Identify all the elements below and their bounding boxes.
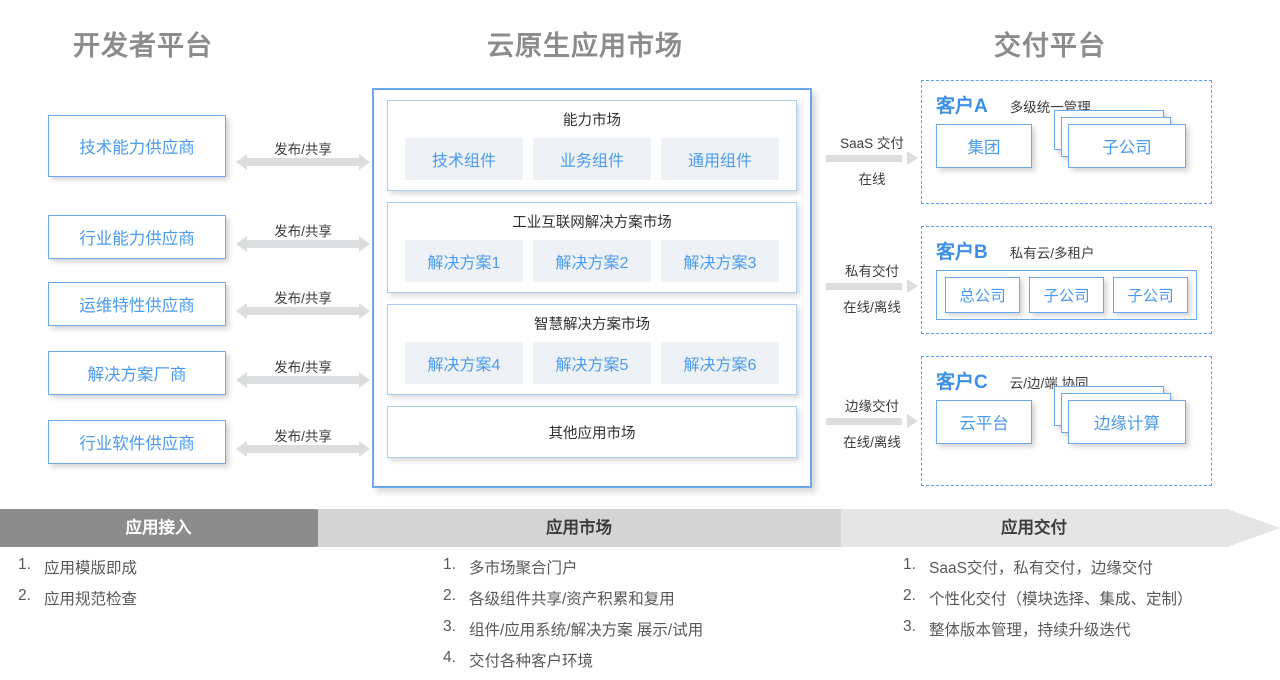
market-section-title: 智慧解决方案市场 <box>388 313 796 334</box>
tenant-container: 总公司 子公司 子公司 <box>936 270 1197 320</box>
chip-solution-2[interactable]: 解决方案2 <box>533 240 651 282</box>
market-section-title: 工业互联网解决方案市场 <box>388 211 796 232</box>
unit-box-subsidiary[interactable]: 子公司 <box>1068 124 1186 168</box>
unit-box-headquarters[interactable]: 总公司 <box>945 277 1020 313</box>
bullet-list-access: 1. 应用模版即成 2. 应用规范检查 <box>18 556 137 618</box>
chip-tech-component[interactable]: 技术组件 <box>405 138 523 180</box>
list-item-number: 2. <box>443 587 469 609</box>
customer-name: 客户B <box>936 237 988 264</box>
list-item-text: 应用模版即成 <box>44 556 137 578</box>
customer-name: 客户C <box>936 367 988 394</box>
market-section-title: 能力市场 <box>388 109 796 130</box>
unit-box-edge-computing[interactable]: 边缘计算 <box>1068 400 1186 444</box>
share-arrow-label: 发布/共享 <box>236 287 370 307</box>
share-arrow-label: 发布/共享 <box>236 356 370 376</box>
list-item: 2. 应用规范检查 <box>18 587 137 609</box>
share-arrow-label: 发布/共享 <box>236 220 370 240</box>
supplier-box-industry-software[interactable]: 行业软件供应商 <box>48 420 226 464</box>
arrow-head-right-icon <box>907 151 918 165</box>
list-item: 1. 多市场聚合门户 <box>443 556 703 578</box>
stage-label: 应用交付 <box>841 509 1227 547</box>
chip-solution-5[interactable]: 解决方案5 <box>533 342 651 384</box>
unit-box-cloud-platform[interactable]: 云平台 <box>936 400 1032 444</box>
chip-solution-6[interactable]: 解决方案6 <box>661 342 779 384</box>
column-header-developer: 开发者平台 <box>73 24 213 63</box>
customer-panel-c: 客户C 云/边/端 协同 云平台 边缘计算 <box>921 356 1212 486</box>
list-item-text: 各级组件共享/资产积累和复用 <box>469 587 675 609</box>
unit-stack-edge-computing[interactable]: 边缘计算 <box>1068 400 1186 444</box>
arrow-shaft <box>246 240 360 248</box>
stage-chevron-access: 应用接入 <box>0 509 340 547</box>
list-item: 4. 交付各种客户环境 <box>443 649 703 671</box>
list-item-text: 个性化交付（模块选择、集成、定制） <box>929 587 1193 609</box>
arrow-shaft <box>246 158 360 166</box>
customer-panel-a: 客户A 多级统一管理 集团 子公司 <box>921 80 1212 204</box>
column-header-delivery: 交付平台 <box>994 24 1106 63</box>
supplier-box-tech-capability[interactable]: 技术能力供应商 <box>48 115 226 177</box>
stage-banner: 应用接入 应用市场 应用交付 <box>0 509 1280 547</box>
arrow-shaft <box>246 307 360 315</box>
customer-body: 总公司 子公司 子公司 <box>936 270 1197 320</box>
list-item-text: SaaS交付，私有交付，边缘交付 <box>929 556 1153 578</box>
unit-box-subsidiary-1[interactable]: 子公司 <box>1029 277 1104 313</box>
list-item-number: 2. <box>903 587 929 609</box>
customer-subtitle: 私有云/多租户 <box>1010 242 1095 262</box>
bullet-list-delivery: 1. SaaS交付，私有交付，边缘交付 2. 个性化交付（模块选择、集成、定制）… <box>903 556 1193 649</box>
list-item-number: 1. <box>903 556 929 578</box>
delivery-arrow-label-top: SaaS 交付 <box>814 132 930 152</box>
list-item: 3. 整体版本管理，持续升级迭代 <box>903 618 1193 640</box>
unit-stack-subsidiary[interactable]: 子公司 <box>1068 124 1186 168</box>
list-item: 2. 各级组件共享/资产积累和复用 <box>443 587 703 609</box>
list-item-number: 2. <box>18 587 44 609</box>
architecture-diagram: 开发者平台 云原生应用市场 交付平台 技术能力供应商 行业能力供应商 运维特性供… <box>0 0 1280 665</box>
customer-header: 客户B 私有云/多租户 <box>936 237 1197 264</box>
chip-row: 技术组件 业务组件 通用组件 <box>388 138 796 180</box>
stage-chevron-market: 应用市场 <box>318 509 863 547</box>
stage-label: 应用接入 <box>0 509 317 547</box>
list-item-text: 应用规范检查 <box>44 587 137 609</box>
list-item-number: 4. <box>443 649 469 671</box>
share-arrow-label: 发布/共享 <box>236 425 370 445</box>
chip-solution-3[interactable]: 解决方案3 <box>661 240 779 282</box>
arrow-head-right-icon <box>359 441 370 457</box>
unit-box-group[interactable]: 集团 <box>936 124 1032 168</box>
chip-solution-4[interactable]: 解决方案4 <box>405 342 523 384</box>
customer-name: 客户A <box>936 91 988 118</box>
supplier-box-industry-capability[interactable]: 行业能力供应商 <box>48 215 226 259</box>
delivery-arrow-label-bottom: 在线/离线 <box>814 296 930 316</box>
market-section-other-apps: 其他应用市场 <box>387 406 797 458</box>
marketplace-panel: 能力市场 技术组件 业务组件 通用组件 工业互联网解决方案市场 解决方案1 解决… <box>372 88 812 488</box>
supplier-box-solution-vendor[interactable]: 解决方案厂商 <box>48 351 226 395</box>
arrow-head-right-icon <box>907 279 918 293</box>
unit-box-subsidiary-2[interactable]: 子公司 <box>1113 277 1188 313</box>
chip-solution-1[interactable]: 解决方案1 <box>405 240 523 282</box>
delivery-arrow-label-bottom: 在线 <box>814 168 930 188</box>
list-item: 1. SaaS交付，私有交付，边缘交付 <box>903 556 1193 578</box>
customer-panel-b: 客户B 私有云/多租户 总公司 子公司 子公司 <box>921 226 1212 334</box>
delivery-arrow-label-top: 私有交付 <box>814 260 930 280</box>
chip-row: 解决方案4 解决方案5 解决方案6 <box>388 342 796 384</box>
customer-body: 集团 子公司 <box>936 124 1197 168</box>
list-item-number: 1. <box>443 556 469 578</box>
supplier-box-ops-feature[interactable]: 运维特性供应商 <box>48 282 226 326</box>
stage-chevron-delivery: 应用交付 <box>841 509 1280 547</box>
arrow-head-right-icon <box>359 154 370 170</box>
customer-body: 云平台 边缘计算 <box>936 400 1197 444</box>
arrow-head-right-icon <box>359 303 370 319</box>
list-item: 3. 组件/应用系统/解决方案 展示/试用 <box>443 618 703 640</box>
chip-business-component[interactable]: 业务组件 <box>533 138 651 180</box>
list-item-number: 3. <box>903 618 929 640</box>
list-item-number: 3. <box>443 618 469 640</box>
arrow-shaft <box>826 418 902 425</box>
market-section-title: 其他应用市场 <box>549 422 636 443</box>
list-item: 2. 个性化交付（模块选择、集成、定制） <box>903 587 1193 609</box>
chip-row: 解决方案1 解决方案2 解决方案3 <box>388 240 796 282</box>
bullet-list-market: 1. 多市场聚合门户 2. 各级组件共享/资产积累和复用 3. 组件/应用系统/… <box>443 556 703 680</box>
arrow-head-right-icon <box>359 236 370 252</box>
chip-common-component[interactable]: 通用组件 <box>661 138 779 180</box>
delivery-arrow-label-top: 边缘交付 <box>814 395 930 415</box>
column-header-marketplace: 云原生应用市场 <box>487 24 683 63</box>
market-section-iiot-solution: 工业互联网解决方案市场 解决方案1 解决方案2 解决方案3 <box>387 202 797 293</box>
delivery-arrow-label-bottom: 在线/离线 <box>814 431 930 451</box>
arrow-head-right-icon <box>359 372 370 388</box>
arrow-shaft <box>246 376 360 384</box>
list-item-number: 1. <box>18 556 44 578</box>
stage-label: 应用市场 <box>318 509 840 547</box>
share-arrow-label: 发布/共享 <box>236 138 370 158</box>
market-section-capability: 能力市场 技术组件 业务组件 通用组件 <box>387 100 797 191</box>
list-item-text: 交付各种客户环境 <box>469 649 593 671</box>
arrow-shaft <box>246 445 360 453</box>
list-item-text: 多市场聚合门户 <box>469 556 578 578</box>
list-item-text: 组件/应用系统/解决方案 展示/试用 <box>469 618 703 640</box>
list-item: 1. 应用模版即成 <box>18 556 137 578</box>
arrow-shaft <box>826 283 902 290</box>
arrow-shaft <box>826 155 902 162</box>
market-section-smart-solution: 智慧解决方案市场 解决方案4 解决方案5 解决方案6 <box>387 304 797 395</box>
list-item-text: 整体版本管理，持续升级迭代 <box>929 618 1131 640</box>
arrow-head-right-icon <box>907 414 918 428</box>
